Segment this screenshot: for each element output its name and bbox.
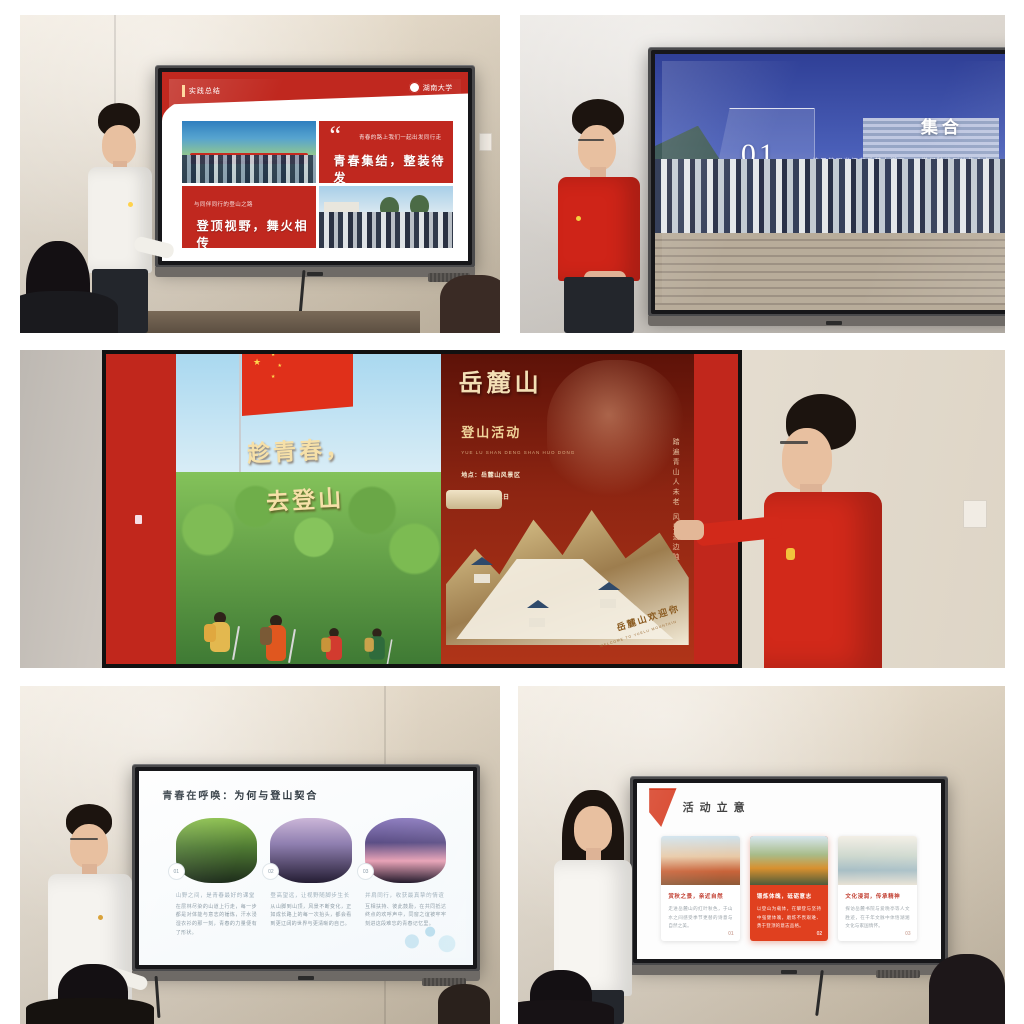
pill-image-1: [176, 818, 257, 883]
card-image-1: [661, 836, 739, 886]
card-row: 赏秋之景，亲近自然 走进岳麓山的红叶秋色，于山水之间感受季节更替的诗意与自然之美…: [661, 836, 916, 942]
poster-left: ★ ★ ★ ★ 趁青春， 去登山: [176, 354, 441, 664]
presenter-legs: [564, 277, 634, 333]
hiker-backpack-icon: [204, 624, 216, 642]
concept-card-1[interactable]: 赏秋之景，亲近自然 走进岳麓山的红叶秋色，于山水之间感受季节更替的诗意与自然之美…: [661, 836, 739, 942]
poster-board: ★ ★ ★ ★ 趁青春， 去登山: [102, 350, 742, 668]
card-heading-2: 锻炼体魄，砥砺意志: [750, 885, 828, 900]
flag-star-icon: ★: [253, 357, 261, 368]
slide-quadrant-grid: 青春在奋斗中绽放 我与祖国共成长 “ 青春的路上我们一起出发同行走 青春集结，整…: [182, 121, 453, 248]
interactive-display[interactable]: 01 集合 清晨的阳光洒在岳麓山脚下，同学们陆续到达集合点。大家整理装备、互相打…: [648, 47, 1005, 317]
pill-badge-2: 02: [263, 864, 278, 879]
presenter-pin-icon: [576, 216, 581, 221]
slide-header: 实践总结: [182, 85, 221, 97]
interactive-display[interactable]: 实践总结 湖南大学 青春在奋斗中绽放 我与祖国共成长: [155, 65, 475, 268]
group-photo-banner: 青春在奋斗中绽放 我与祖国共成长: [182, 121, 316, 183]
card-body-1: 走进岳麓山的红叶秋色，于山水之间感受季节更替的诗意与自然之美。: [661, 900, 739, 934]
hiker-backpack-icon: [364, 638, 373, 652]
university-logo-label: 湖南大学: [423, 83, 453, 93]
presenter-top-right: [550, 75, 660, 333]
presenter-torso: [764, 492, 882, 668]
pavilion-roof-icon: [471, 557, 493, 565]
audience-shoulder-foreground: [26, 998, 154, 1024]
pin-icon: [135, 515, 142, 524]
group-photo-outdoor: [319, 186, 453, 248]
presenter-torso: [88, 167, 152, 273]
pill-column: 01 山野之间，是青春最好的课堂 在层林尽染的山道上行走，每一步都是对体能与意志…: [176, 818, 257, 948]
crowd-silhouette: [319, 212, 453, 248]
university-seal-icon: [409, 82, 420, 93]
wall-plate: [479, 133, 492, 151]
slide-three-card: 活动立意 赏秋之景，亲近自然 走进岳麓山的红叶秋色，于山水之间感受季节更替的诗意…: [637, 783, 941, 959]
quadrant-subtext-1: 青春的路上我们一起出发同行走: [359, 133, 442, 141]
quote-mark-icon: “: [329, 127, 341, 145]
slide-title: 青春在呼唤：为何与登山契合: [162, 787, 318, 802]
university-logo: 湖南大学: [409, 82, 453, 93]
concept-card-2[interactable]: 锻炼体魄，砥砺意志 以登山为载体，在攀登与坚持中强健体魄，磨炼不畏艰难、勇于登顶…: [750, 836, 828, 942]
panel-top-right: 01 集合 清晨的阳光洒在岳麓山脚下，同学们陆续到达集合点。大家整理装备、互相打…: [520, 15, 1005, 333]
concept-card-3[interactable]: 文化浸润，传承精神 探访岳麓书院与爱晚亭等人文胜迹，在千年文脉中体悟湖湘文化与家…: [838, 836, 916, 942]
slide-title: 活动立意: [683, 799, 751, 815]
photo-collage: 实践总结 湖南大学 青春在奋斗中绽放 我与祖国共成长: [0, 0, 1024, 1024]
interactive-display[interactable]: 青春在呼唤：为何与登山契合 01 山野之间，是青春最好的课堂 在层林尽染的山道上…: [132, 764, 480, 972]
scroll-prop-icon: [446, 490, 502, 509]
pill-body-1: 在层林尽染的山道上行走，每一步都是对体能与意志的锤炼，汗水浸湿衣衫的那一刻，青春…: [176, 903, 257, 938]
pill-column: 02 登高望远，让视野随脚步生长 从山脚到山顶，风景不断变化，正如成长路上的每一…: [270, 818, 351, 948]
pill-heading-2: 登高望远，让视野随脚步生长: [270, 891, 351, 899]
hiker-backpack-icon: [260, 627, 272, 645]
display-brand-icon: [307, 272, 323, 276]
card-image-2: [750, 836, 828, 886]
panel-middle: ★ ★ ★ ★ 趁青春， 去登山: [20, 350, 1005, 668]
presenter-head: [782, 428, 832, 490]
presenter-head: [70, 824, 108, 868]
presenter-head: [578, 125, 616, 171]
poster-right-subtitle: 登山活动: [461, 422, 521, 441]
stone-steps: [655, 233, 1005, 310]
presenter-emblem-icon: [786, 548, 795, 560]
pavilion-base-icon: [474, 574, 490, 583]
pavilion-roof-icon: [598, 582, 620, 590]
display-brand-icon: [298, 976, 314, 980]
card-heading-3: 文化浸润，传承精神: [838, 885, 916, 900]
flag-pole: [239, 354, 241, 478]
interactive-display[interactable]: 活动立意 赏秋之景，亲近自然 走进岳麓山的红叶秋色，于山水之间感受季节更替的诗意…: [630, 776, 948, 966]
hiker-figure: [266, 615, 286, 661]
card-image-3: [838, 836, 916, 886]
quadrant-slogan-2: 登顶视野，舞火相传: [197, 217, 316, 248]
card-number-3: 03: [905, 931, 911, 937]
slide-section-cover: 01 集合 清晨的阳光洒在岳麓山脚下，同学们陆续到达集合点。大家整理装备、互相打…: [655, 54, 1005, 310]
presenter-hand: [674, 520, 704, 540]
poster-right: 岳麓山 登山活动 YUE LU SHAN DENG SHAN HUO DONG …: [441, 354, 694, 664]
poster-left-headline-1: 趁青春，: [246, 429, 352, 468]
panel-top-left: 实践总结 湖南大学 青春在奋斗中绽放 我与祖国共成长: [20, 15, 500, 333]
display-screen: 青春在呼唤：为何与登山契合 01 山野之间，是青春最好的课堂 在层林尽染的山道上…: [139, 771, 473, 965]
board-red-margin-left: [106, 354, 176, 664]
pill-badge-3: 03: [358, 864, 373, 879]
wall-speaker: [876, 970, 920, 978]
presenter-glasses-icon: [70, 838, 98, 840]
audience-shoulder-right: [440, 275, 500, 333]
slide-header-label: 实践总结: [189, 86, 221, 96]
crowd-silhouette: [182, 155, 316, 183]
audience-head-right: [929, 954, 1005, 1024]
audience-shoulder-foreground: [518, 1000, 614, 1024]
slide-top-band: [162, 72, 468, 123]
card-heading-1: 赏秋之景，亲近自然: [661, 885, 739, 900]
presenter-pin-icon: [128, 202, 133, 207]
pill-badge-1: 01: [169, 864, 184, 879]
hiker-figure: [210, 612, 230, 652]
slide-red-grid: 实践总结 湖南大学 青春在奋斗中绽放 我与祖国共成长: [162, 72, 468, 261]
panel-bottom-right: 活动立意 赏秋之景，亲近自然 走进岳麓山的红叶秋色，于山水之间感受季节更替的诗意…: [518, 686, 1005, 1024]
presenter-torso: [558, 177, 640, 281]
presenter-middle: [738, 350, 918, 668]
hiker-backpack-icon: [321, 638, 331, 652]
presenter-head: [574, 806, 612, 852]
card-number-1: 01: [728, 931, 734, 937]
poster-right-detail-1: 地点：岳麓山风景区: [461, 472, 520, 482]
presenter-head: [102, 125, 136, 165]
board-inner: ★ ★ ★ ★ 趁青春， 去登山: [106, 354, 738, 664]
pill-image-2: [270, 818, 351, 883]
poster-right-title: 岳麓山: [459, 363, 543, 398]
slide-three-pill: 青春在呼唤：为何与登山契合 01 山野之间，是青春最好的课堂 在层林尽染的山道上…: [139, 771, 473, 965]
card-number-2: 02: [817, 931, 823, 937]
display-screen: 01 集合 清晨的阳光洒在岳麓山脚下，同学们陆续到达集合点。大家整理装备、互相打…: [655, 54, 1005, 310]
display-screen: 活动立意 赏秋之景，亲近自然 走进岳麓山的红叶秋色，于山水之间感受季节更替的诗意…: [637, 783, 941, 959]
flag-star-icon: ★: [271, 374, 275, 380]
poster-right-vertical-text: 踏遍青山人未老 风景这边独好: [671, 438, 681, 573]
panel-bottom-left: 青春在呼唤：为何与登山契合 01 山野之间，是青春最好的课堂 在层林尽染的山道上…: [20, 686, 500, 1024]
display-brand-icon: [781, 970, 797, 974]
watercolor-decoration: [390, 918, 463, 957]
hiker-figure: [369, 628, 385, 659]
quadrant-text-slogan-2: 与同伴同行的登山之路 登顶视野，舞火相传: [182, 186, 316, 248]
quadrant-photo-banner: 青春在奋斗中绽放 我与祖国共成长: [182, 121, 316, 183]
flag-star-icon: ★: [278, 363, 282, 369]
poster-left-headline-2: 去登山: [265, 479, 345, 517]
crowd-row: [655, 159, 1005, 241]
quadrant-slogan-1: 青春集结，整装待发: [334, 152, 453, 183]
portrait-silhouette: [547, 360, 684, 496]
wall-switch-plate[interactable]: [963, 500, 987, 528]
presenter-glasses-icon: [578, 139, 604, 141]
display-screen: 实践总结 湖南大学 青春在奋斗中绽放 我与祖国共成长: [162, 72, 468, 261]
pill-image-3: [365, 818, 446, 883]
presenter-pin-icon: [98, 915, 103, 920]
quadrant-text-slogan-1: “ 青春的路上我们一起出发同行走 青春集结，整装待发: [319, 121, 453, 183]
card-body-2: 以登山为载体，在攀登与坚持中强健体魄，磨炼不畏艰难、勇于登顶的意志品格。: [750, 900, 828, 934]
section-title: 集合: [921, 113, 963, 138]
hiker-figure: [326, 628, 342, 660]
presenter-glasses-icon: [780, 441, 808, 444]
audience-head-right: [438, 984, 490, 1024]
flag-star-icon: ★: [271, 354, 275, 358]
board-red-margin-right: [694, 354, 738, 664]
header-tick-icon: [182, 85, 185, 97]
pill-body-2: 从山脚到山顶，风景不断变化，正如成长路上的每一次抬头，都会看到更辽阔的世界与更清…: [270, 903, 351, 929]
national-flag-icon: ★ ★ ★ ★: [242, 354, 353, 416]
pill-heading-1: 山野之间，是青春最好的课堂: [176, 891, 257, 899]
pill-heading-3: 并肩同行，收获最真挚的情谊: [365, 891, 446, 899]
quadrant-subtext-2: 与同伴同行的登山之路: [194, 200, 253, 208]
pavilion-roof-icon: [527, 600, 549, 608]
display-brand-icon: [826, 321, 842, 325]
card-body-3: 探访岳麓书院与爱晚亭等人文胜迹，在千年文脉中体悟湖湘文化与家国情怀。: [838, 900, 916, 934]
audience-shoulder-foreground: [20, 291, 118, 333]
quadrant-photo-outdoor: [319, 186, 453, 248]
pavilion-base-icon: [529, 618, 545, 627]
poster-right-subtitle-en: YUE LU SHAN DENG SHAN HUO DONG: [461, 450, 575, 455]
pavilion-base-icon: [600, 599, 616, 608]
